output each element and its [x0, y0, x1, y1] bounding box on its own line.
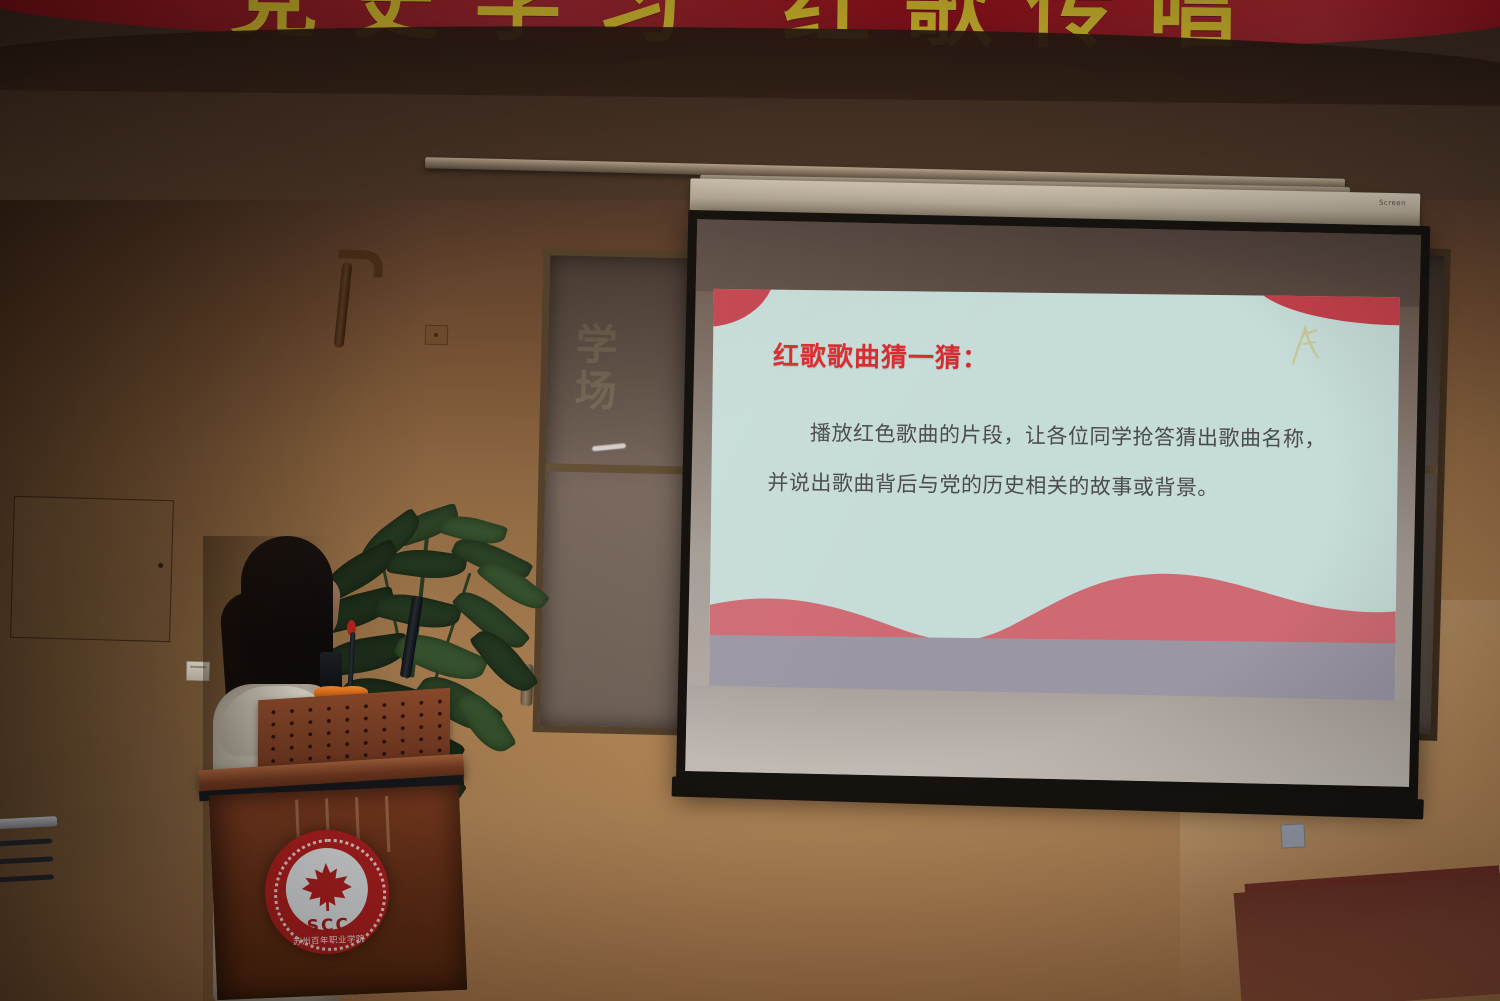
wall-access-panel	[10, 496, 174, 642]
screen-housing-label: Screen	[1379, 199, 1406, 208]
cart-rail	[0, 874, 54, 882]
screen-lower-sheet	[685, 685, 1411, 787]
slide-content: 红歌歌曲猜一猜： 播放红色歌曲的片段，让各位同学抢答猜出歌曲名称，并说出歌曲背后…	[709, 289, 1400, 701]
side-table-cart	[0, 816, 63, 940]
floor	[1234, 873, 1500, 1001]
slide-ornament-icon	[1285, 324, 1326, 368]
maple-leaf-icon	[300, 861, 354, 913]
screen-surface: 红歌歌曲猜一猜： 播放红色歌曲的片段，让各位同学抢答猜出歌曲名称，并说出歌曲背后…	[685, 219, 1421, 787]
slide-title: 红歌歌曲猜一猜：	[773, 336, 989, 376]
wall-socket-left[interactable]	[425, 325, 448, 346]
slide-body-text: 播放红色歌曲的片段，让各位同学抢答猜出歌曲名称，并说出歌曲背后与党的历史相关的故…	[767, 408, 1346, 515]
wall-socket-right[interactable]	[1280, 823, 1305, 848]
projection-screen: 红歌歌曲猜一猜： 播放红色歌曲的片段，让各位同学抢答猜出歌曲名称，并说出歌曲背后…	[676, 210, 1430, 806]
school-logo: SCC 苏州百年职业学院	[262, 827, 391, 956]
wall-conduit-elbow	[338, 249, 384, 278]
cart-top-surface	[0, 816, 57, 830]
presentation-photo-scene: 党史学习 红歌传唱 Screen 学场	[0, 0, 1500, 1001]
slide-decor-top-left	[709, 289, 776, 328]
podium: SCC 苏州百年职业学院	[185, 694, 465, 1001]
cart-rail	[0, 856, 53, 864]
cart-rail	[0, 838, 52, 846]
access-panel-knob	[158, 563, 163, 568]
